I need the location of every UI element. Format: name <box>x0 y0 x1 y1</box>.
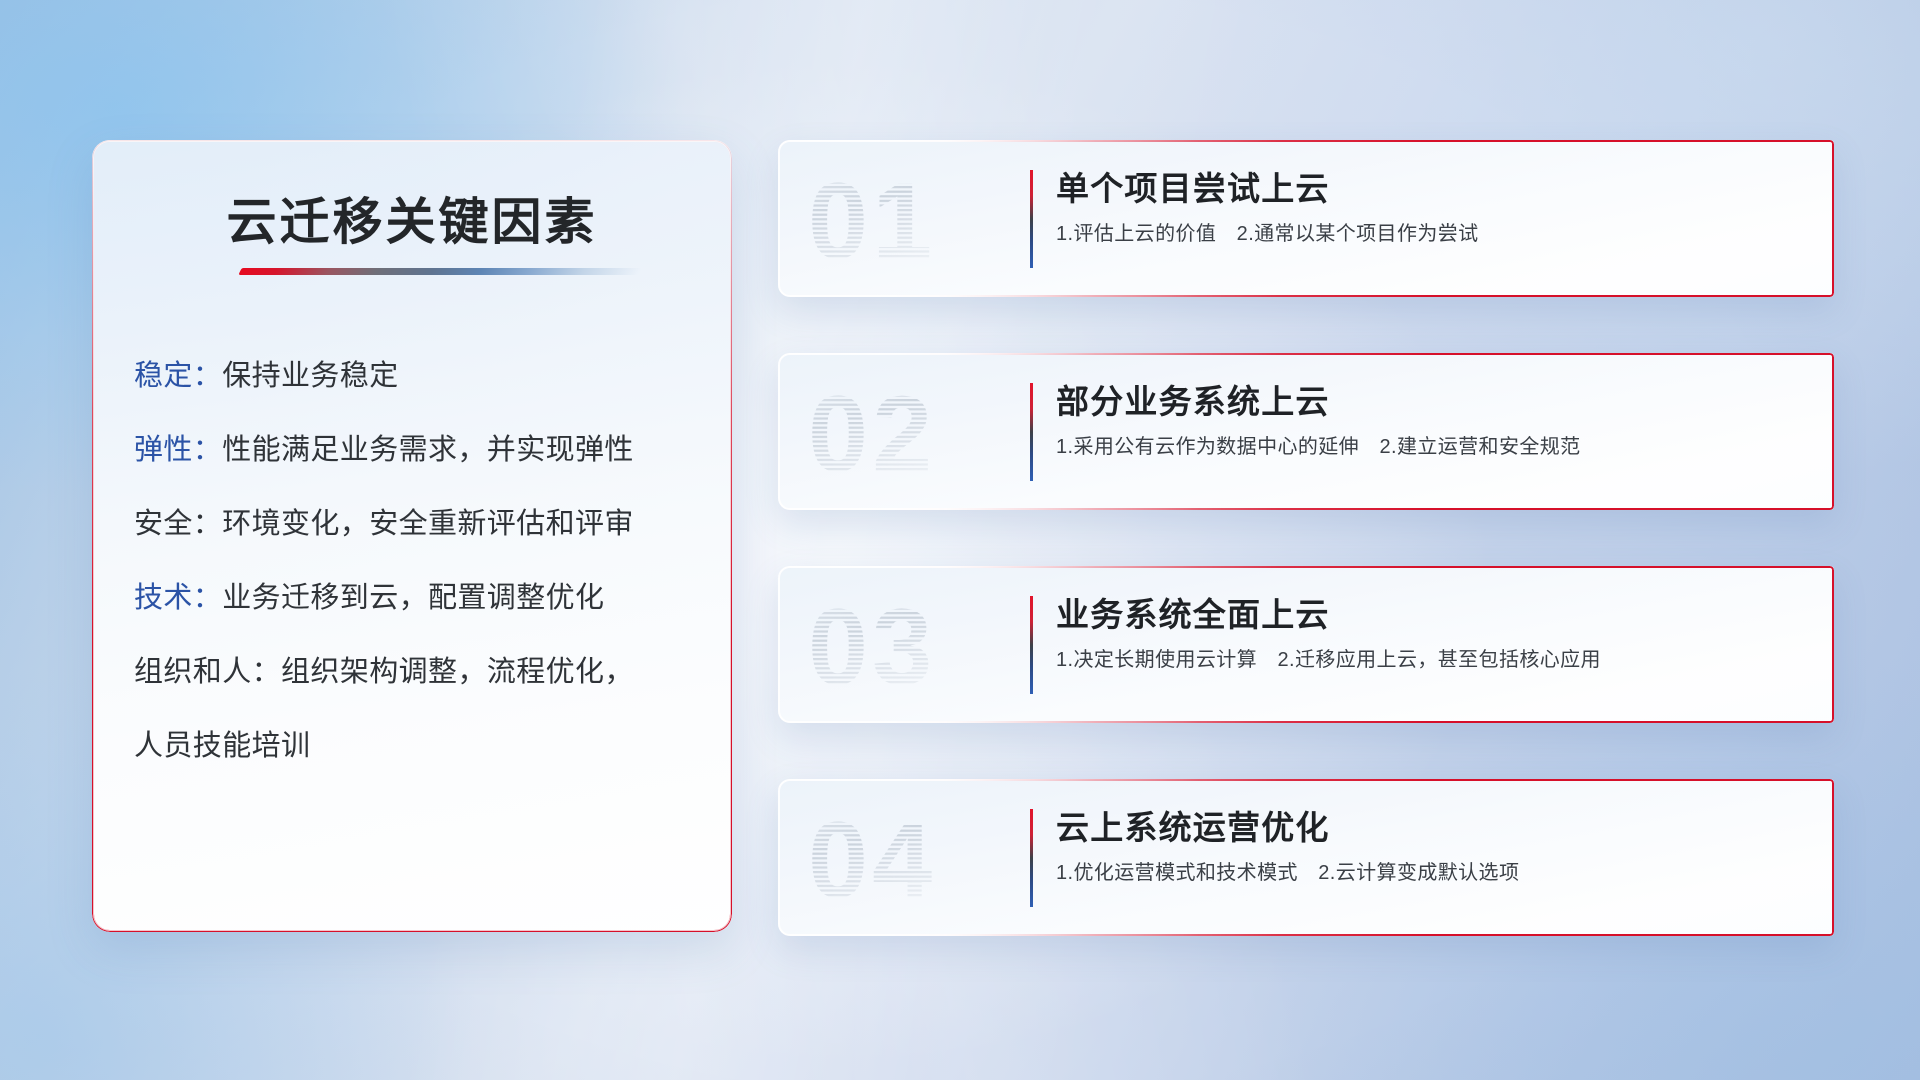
list-item: 组织和人：组织架构调整，流程优化， <box>134 658 698 687</box>
slide-canvas: 云迁移关键因素 稳定：保持业务稳定 弹性：性能满足业务需求，并实现弹性 安全：环… <box>0 0 1920 1080</box>
card-accent-bar <box>1030 809 1033 907</box>
factor-text: 性能满足业务需求，并实现弹性 <box>222 434 634 466</box>
stage-number-ghost-icon: 04 <box>800 802 1030 914</box>
svg-text:01: 01 <box>808 163 936 275</box>
factor-text: 环境变化，安全重新评估和评审 <box>222 508 634 540</box>
card-accent-bar <box>1030 383 1033 481</box>
factor-label: 稳定： <box>134 360 222 392</box>
card-subtitle: 1.优化运营模式和技术模式 2.云计算变成默认选项 <box>1056 861 1812 885</box>
card-text-block: 单个项目尝试上云 1.评估上云的价值 2.通常以某个项目作为尝试 <box>1056 170 1812 246</box>
card-text-block: 部分业务系统上云 1.采用公有云作为数据中心的延伸 2.建立运营和安全规范 <box>1056 383 1812 459</box>
stage-card[interactable]: 04 云上系统运营优化 1.优化运营模式和技术模式 2.云计算变成默认选项 <box>778 779 1834 936</box>
card-title: 单个项目尝试上云 <box>1056 170 1812 209</box>
card-title: 部分业务系统上云 <box>1056 383 1812 422</box>
card-subtitle: 1.决定长期使用云计算 2.迁移应用上云，甚至包括核心应用 <box>1056 648 1812 672</box>
factor-text: 人员技能培训 <box>134 730 310 762</box>
stage-card[interactable]: 03 业务系统全面上云 1.决定长期使用云计算 2.迁移应用上云，甚至包括核心应… <box>778 566 1834 723</box>
stage-card[interactable]: 02 部分业务系统上云 1.采用公有云作为数据中心的延伸 2.建立运营和安全规范 <box>778 353 1834 510</box>
list-item: 安全：环境变化，安全重新评估和评审 <box>134 510 698 539</box>
svg-text:02: 02 <box>808 376 936 488</box>
card-accent-bar <box>1030 170 1033 268</box>
list-item: 人员技能培训 <box>134 732 698 761</box>
stage-number-ghost-icon: 03 <box>800 589 1030 701</box>
card-title: 业务系统全面上云 <box>1056 596 1812 635</box>
list-item: 技术：业务迁移到云，配置调整优化 <box>134 584 698 613</box>
card-subtitle: 1.采用公有云作为数据中心的延伸 2.建立运营和安全规范 <box>1056 435 1812 459</box>
stage-number-ghost-icon: 01 <box>800 163 1030 275</box>
factor-label: 技术： <box>134 582 222 614</box>
svg-text:03: 03 <box>808 589 936 701</box>
factor-label: 弹性： <box>134 434 222 466</box>
factor-text: 组织架构调整，流程优化， <box>281 656 634 688</box>
factor-list: 稳定：保持业务稳定 弹性：性能满足业务需求，并实现弹性 安全：环境变化，安全重新… <box>134 362 698 761</box>
key-factors-panel: 云迁移关键因素 稳定：保持业务稳定 弹性：性能满足业务需求，并实现弹性 安全：环… <box>92 140 732 932</box>
stage-card[interactable]: 01 单个项目尝试上云 1.评估上云的价值 2.通常以某个项目作为尝试 <box>778 140 1834 297</box>
factor-text: 业务迁移到云，配置调整优化 <box>222 582 604 614</box>
card-subtitle: 1.评估上云的价值 2.通常以某个项目作为尝试 <box>1056 222 1812 246</box>
card-accent-bar <box>1030 596 1033 694</box>
list-item: 弹性：性能满足业务需求，并实现弹性 <box>134 436 698 465</box>
stage-number-ghost-icon: 02 <box>800 376 1030 488</box>
list-item: 稳定：保持业务稳定 <box>134 362 698 391</box>
card-title: 云上系统运营优化 <box>1056 809 1812 848</box>
card-text-block: 业务系统全面上云 1.决定长期使用云计算 2.迁移应用上云，甚至包括核心应用 <box>1056 596 1812 672</box>
factor-text: 保持业务稳定 <box>222 360 398 392</box>
svg-text:04: 04 <box>808 802 936 914</box>
factor-label: 安全： <box>134 508 222 540</box>
factor-label: 组织和人： <box>134 656 281 688</box>
card-text-block: 云上系统运营优化 1.优化运营模式和技术模式 2.云计算变成默认选项 <box>1056 809 1812 885</box>
title-underline-gradient <box>238 268 641 275</box>
page-title: 云迁移关键因素 <box>92 182 732 254</box>
stage-card-list: 01 单个项目尝试上云 1.评估上云的价值 2.通常以某个项目作为尝试 <box>778 140 1834 936</box>
